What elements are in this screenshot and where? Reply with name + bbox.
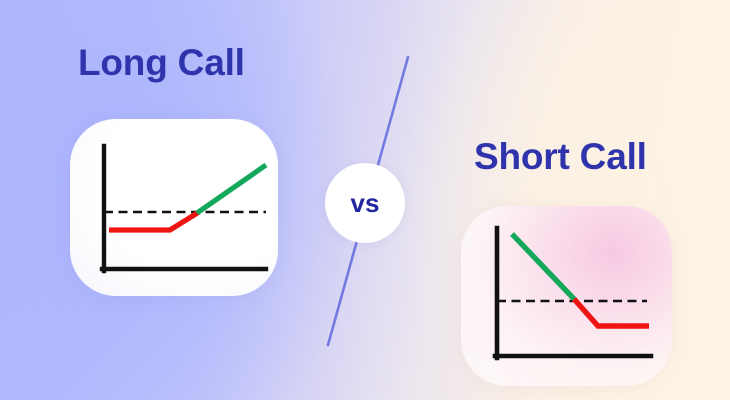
loss-segment	[109, 212, 199, 230]
short-call-card	[461, 206, 672, 386]
long-call-payoff-chart	[70, 119, 278, 296]
long-call-card	[70, 119, 278, 296]
gain-segment	[512, 234, 576, 301]
profit-segment	[197, 165, 266, 213]
short-call-payoff-chart	[461, 206, 672, 386]
page-title-long-call: Long Call	[78, 42, 245, 84]
comparison-graphic: Long Call vs Short Call	[0, 0, 730, 400]
loss-segment	[574, 299, 649, 326]
page-title-short-call: Short Call	[474, 136, 647, 178]
versus-label: vs	[351, 190, 380, 216]
versus-badge: vs	[325, 163, 405, 243]
